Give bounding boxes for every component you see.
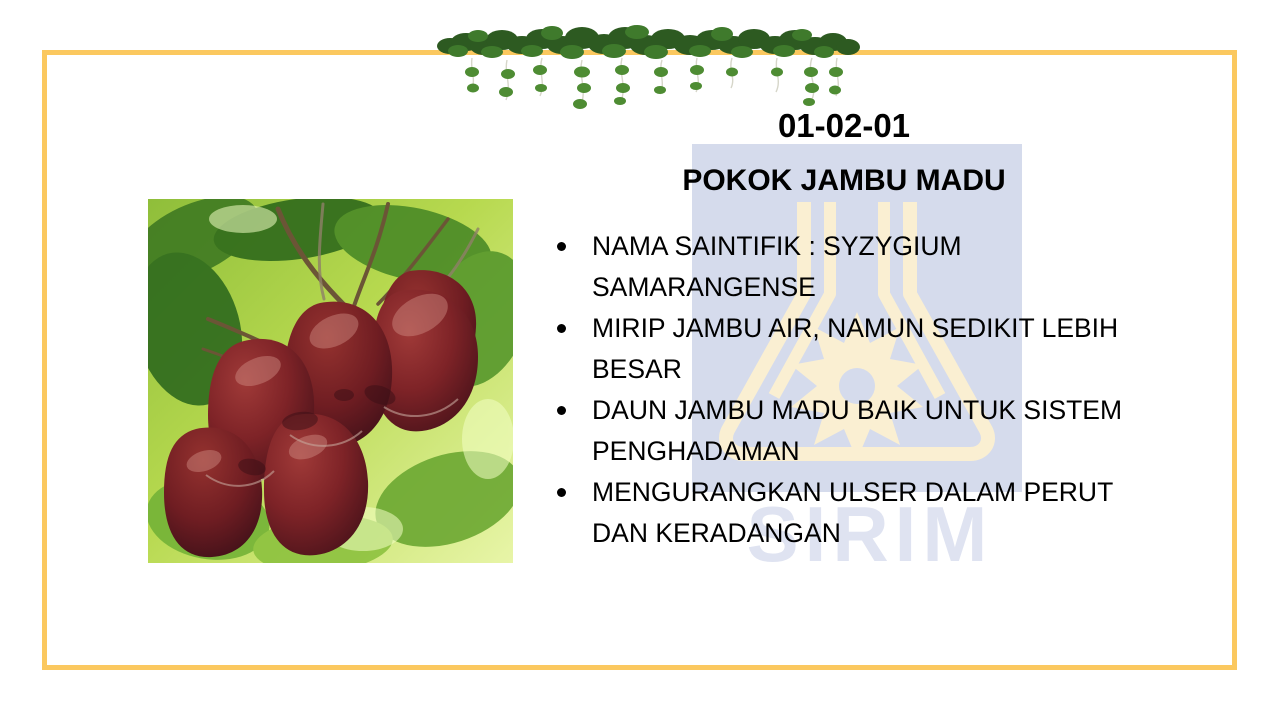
slide-heading: POKOK JAMBU MADU [540,162,1148,200]
bullet-dot-icon [557,406,566,415]
list-item: MIRIP JAMBU AIR, NAMUN SEDIKIT LEBIH BES… [540,308,1160,390]
presentation-slide: SIRIM 01-02-01 POKOK JAMBU MADU NAMA SAI… [0,0,1280,720]
list-item-label: MENGURANGKAN ULSER DALAM PERUT DAN KERAD… [592,477,1113,548]
slide-text-content: 01-02-01 POKOK JAMBU MADU NAMA SAINTIFIK… [540,106,1160,554]
bullet-dot-icon [557,242,566,251]
ivy-vine-icon [432,0,862,120]
list-item-label: MIRIP JAMBU AIR, NAMUN SEDIKIT LEBIH BES… [592,313,1118,384]
list-item-label: NAMA SAINTIFIK : SYZYGIUM SAMARANGENSE [592,231,962,302]
list-item: NAMA SAINTIFIK : SYZYGIUM SAMARANGENSE [540,226,1160,308]
slide-code: 01-02-01 [540,106,1148,146]
list-item-label: DAUN JAMBU MADU BAIK UNTUK SISTEM PENGHA… [592,395,1122,466]
list-item: MENGURANGKAN ULSER DALAM PERUT DAN KERAD… [540,472,1160,554]
jambu-madu-fruit-photo [148,199,513,563]
bullet-dot-icon [557,488,566,497]
bullet-dot-icon [557,324,566,333]
list-item: DAUN JAMBU MADU BAIK UNTUK SISTEM PENGHA… [540,390,1160,472]
bullet-list: NAMA SAINTIFIK : SYZYGIUM SAMARANGENSE M… [540,226,1160,554]
